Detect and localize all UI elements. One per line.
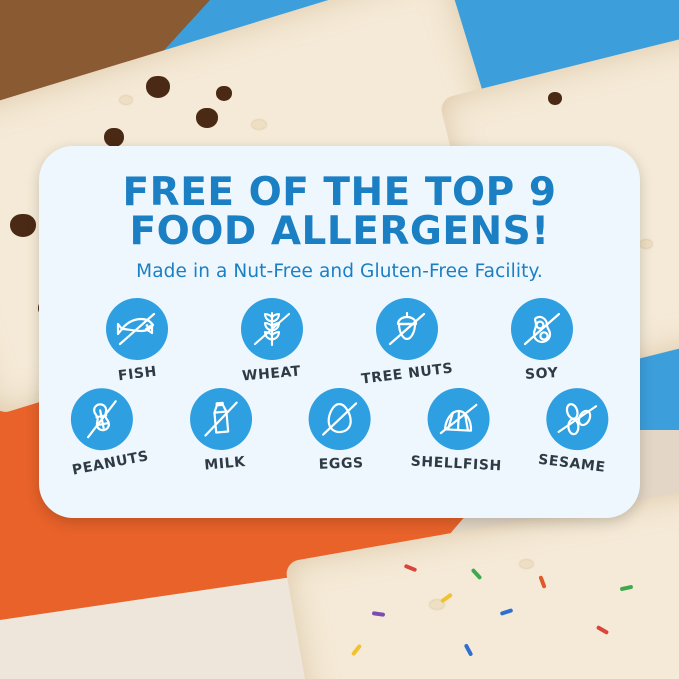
- allergen-item-wheat: WHEAT: [224, 298, 320, 382]
- rice-crisp: [120, 96, 132, 104]
- rice-crisp: [640, 240, 652, 248]
- rice-crisp: [520, 560, 533, 568]
- chocolate-chip: [196, 108, 218, 128]
- allergen-label: TREE NUTS: [360, 360, 454, 387]
- chocolate-chip: [216, 86, 232, 101]
- chocolate-chip: [10, 214, 36, 237]
- wheat-no-icon: [241, 298, 303, 360]
- allergen-info-panel: FREE OF THE TOP 9 FOOD ALLERGENS! Made i…: [39, 146, 640, 518]
- sesame-no-icon: [542, 385, 611, 454]
- allergen-item-sesame: SESAME: [523, 382, 629, 477]
- allergen-icon-grid: FISH: [39, 298, 640, 472]
- allergen-item-eggs: EGGS: [290, 386, 389, 473]
- chocolate-chip: [146, 76, 170, 98]
- subheadline: Made in a Nut-Free and Gluten-Free Facil…: [39, 261, 640, 282]
- tree-nuts-no-icon: [376, 298, 438, 360]
- allergen-item-milk: MILK: [170, 384, 273, 476]
- milk-no-icon: [187, 385, 254, 452]
- allergen-label: EGGS: [318, 455, 364, 473]
- eggs-no-icon: [307, 387, 371, 451]
- allergen-item-fish: FISH: [89, 298, 185, 382]
- allergen-label: SESAME: [537, 452, 606, 476]
- rice-crisp: [252, 120, 266, 129]
- allergen-item-shellfish: SHELLFISH: [407, 386, 507, 475]
- shellfish-no-icon: [425, 386, 490, 451]
- allergen-row-2: PEANUTS MILK: [39, 388, 640, 472]
- headline-line-2: FOOD ALLERGENS!: [39, 212, 640, 251]
- allergen-item-tree-nuts: TREE NUTS: [359, 298, 455, 382]
- allergen-label: SHELLFISH: [410, 454, 502, 475]
- allergen-label: WHEAT: [242, 363, 302, 384]
- allergen-item-soy: SOY: [494, 298, 590, 382]
- peanuts-no-icon: [65, 383, 138, 456]
- allergen-label: MILK: [203, 454, 246, 474]
- fish-no-icon: [106, 298, 168, 360]
- product-infographic-image: FREE OF THE TOP 9 FOOD ALLERGENS! Made i…: [0, 0, 679, 679]
- chocolate-chip: [548, 92, 562, 105]
- chocolate-chip: [104, 128, 124, 147]
- page-title: FREE OF THE TOP 9 FOOD ALLERGENS!: [39, 146, 640, 251]
- allergen-label: SOY: [525, 365, 559, 383]
- allergen-row-1: FISH: [39, 298, 640, 382]
- allergen-item-peanuts: PEANUTS: [48, 380, 158, 481]
- soy-no-icon: [511, 298, 573, 360]
